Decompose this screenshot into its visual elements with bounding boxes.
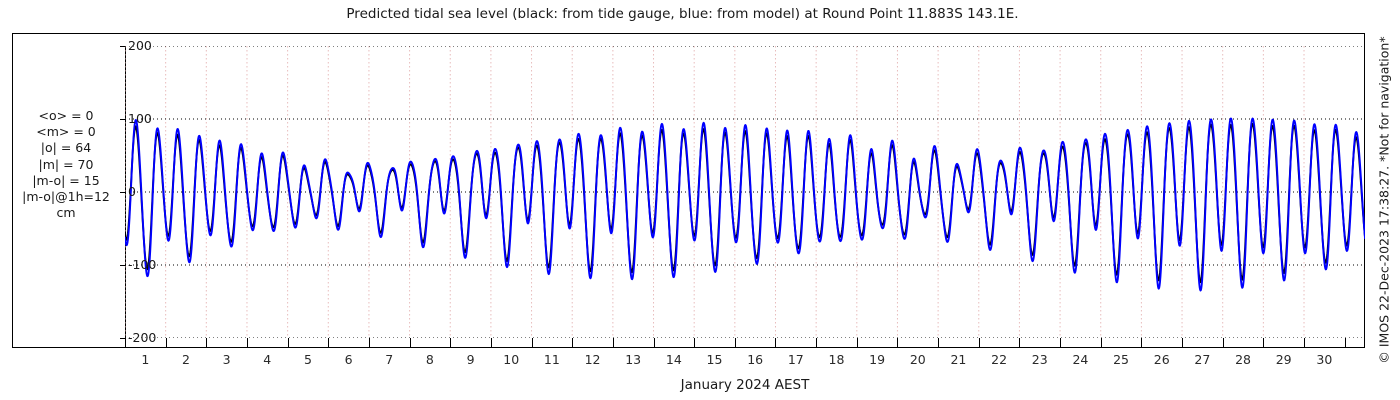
y-tick-label--200: -200 (128, 330, 156, 345)
series-line-from-tide-gauge (125, 124, 1365, 282)
imos-credit: © IMOS 22-Dec-2023 17:38:27. *Not for na… (1373, 0, 1395, 400)
y-tick-label-100: 100 (128, 111, 152, 126)
x-tick-mark-16 (735, 338, 736, 348)
x-tick-mark-20 (897, 338, 898, 348)
x-tick-mark-13 (613, 338, 614, 348)
x-tick-mark-6 (328, 338, 329, 348)
statistics-annotation-block: <o> = 0<m> = 0|o| = 64|m| = 70|m-o| = 15… (8, 108, 124, 221)
x-tick-label-4: 4 (263, 352, 271, 367)
x-tick-mark-18 (816, 338, 817, 348)
x-tick-label-29: 29 (1276, 352, 1292, 367)
x-tick-label-8: 8 (426, 352, 434, 367)
x-tick-mark-28 (1223, 338, 1224, 348)
x-tick-mark-7 (369, 338, 370, 348)
x-tick-label-13: 13 (625, 352, 641, 367)
x-tick-mark-12 (572, 338, 573, 348)
x-tick-mark-end (1345, 338, 1346, 348)
y-tick-mark-0 (120, 192, 125, 193)
x-tick-mark-2 (166, 338, 167, 348)
x-tick-mark-23 (1019, 338, 1020, 348)
x-tick-label-5: 5 (304, 352, 312, 367)
tidal-sea-level-figure: Predicted tidal sea level (black: from t… (0, 0, 1400, 400)
stat-line-5: |m-o|@1h=12 (8, 189, 124, 205)
y-tick-label-200: 200 (128, 38, 152, 53)
x-tick-label-21: 21 (950, 352, 966, 367)
plot-svg (125, 46, 1365, 338)
x-tick-label-7: 7 (385, 352, 393, 367)
x-tick-mark-4 (247, 338, 248, 348)
x-tick-label-12: 12 (585, 352, 601, 367)
x-tick-mark-9 (450, 338, 451, 348)
x-tick-label-24: 24 (1072, 352, 1088, 367)
x-tick-label-14: 14 (666, 352, 682, 367)
x-tick-label-11: 11 (544, 352, 560, 367)
stat-line-0: <o> = 0 (8, 108, 124, 124)
x-tick-label-23: 23 (1032, 352, 1048, 367)
y-tick-label--100: -100 (128, 257, 156, 272)
x-tick-mark-10 (491, 338, 492, 348)
stat-line-3: |m| = 70 (8, 157, 124, 173)
x-tick-mark-22 (979, 338, 980, 348)
y-tick-label-0: 0 (128, 184, 136, 199)
x-tick-mark-25 (1101, 338, 1102, 348)
stat-line-1: <m> = 0 (8, 124, 124, 140)
x-tick-label-10: 10 (503, 352, 519, 367)
imos-credit-text: © IMOS 22-Dec-2023 17:38:27. *Not for na… (1377, 36, 1392, 363)
y-tick-mark-100 (120, 119, 125, 120)
x-tick-mark-30 (1304, 338, 1305, 348)
stat-line-2: |o| = 64 (8, 140, 124, 156)
x-tick-mark-5 (288, 338, 289, 348)
chart-title: Predicted tidal sea level (black: from t… (0, 6, 1365, 22)
x-tick-label-18: 18 (829, 352, 845, 367)
x-tick-label-19: 19 (869, 352, 885, 367)
x-tick-label-17: 17 (788, 352, 804, 367)
x-tick-label-28: 28 (1235, 352, 1251, 367)
x-tick-mark-21 (938, 338, 939, 348)
x-tick-mark-27 (1182, 338, 1183, 348)
x-tick-mark-1 (125, 338, 126, 348)
x-tick-label-27: 27 (1194, 352, 1210, 367)
x-tick-label-30: 30 (1316, 352, 1332, 367)
y-tick-mark-200 (120, 46, 125, 47)
x-tick-label-22: 22 (991, 352, 1007, 367)
x-axis-title: January 2024 AEST (125, 377, 1365, 393)
x-tick-label-2: 2 (182, 352, 190, 367)
x-tick-mark-17 (775, 338, 776, 348)
x-tick-mark-26 (1141, 338, 1142, 348)
x-tick-label-26: 26 (1154, 352, 1170, 367)
x-tick-label-20: 20 (910, 352, 926, 367)
x-tick-label-16: 16 (747, 352, 763, 367)
x-tick-mark-15 (694, 338, 695, 348)
x-tick-mark-8 (410, 338, 411, 348)
x-tick-label-1: 1 (141, 352, 149, 367)
x-tick-label-6: 6 (345, 352, 353, 367)
y-tick-mark--100 (120, 265, 125, 266)
x-tick-mark-19 (857, 338, 858, 348)
x-tick-mark-14 (654, 338, 655, 348)
x-tick-mark-24 (1060, 338, 1061, 348)
x-tick-mark-11 (532, 338, 533, 348)
x-tick-label-3: 3 (223, 352, 231, 367)
stat-line-6: cm (8, 205, 124, 221)
x-tick-label-25: 25 (1113, 352, 1129, 367)
plot-area (125, 46, 1365, 338)
x-tick-label-15: 15 (707, 352, 723, 367)
stat-line-4: |m-o| = 15 (8, 173, 124, 189)
x-tick-label-9: 9 (467, 352, 475, 367)
x-tick-mark-29 (1263, 338, 1264, 348)
x-tick-mark-3 (206, 338, 207, 348)
